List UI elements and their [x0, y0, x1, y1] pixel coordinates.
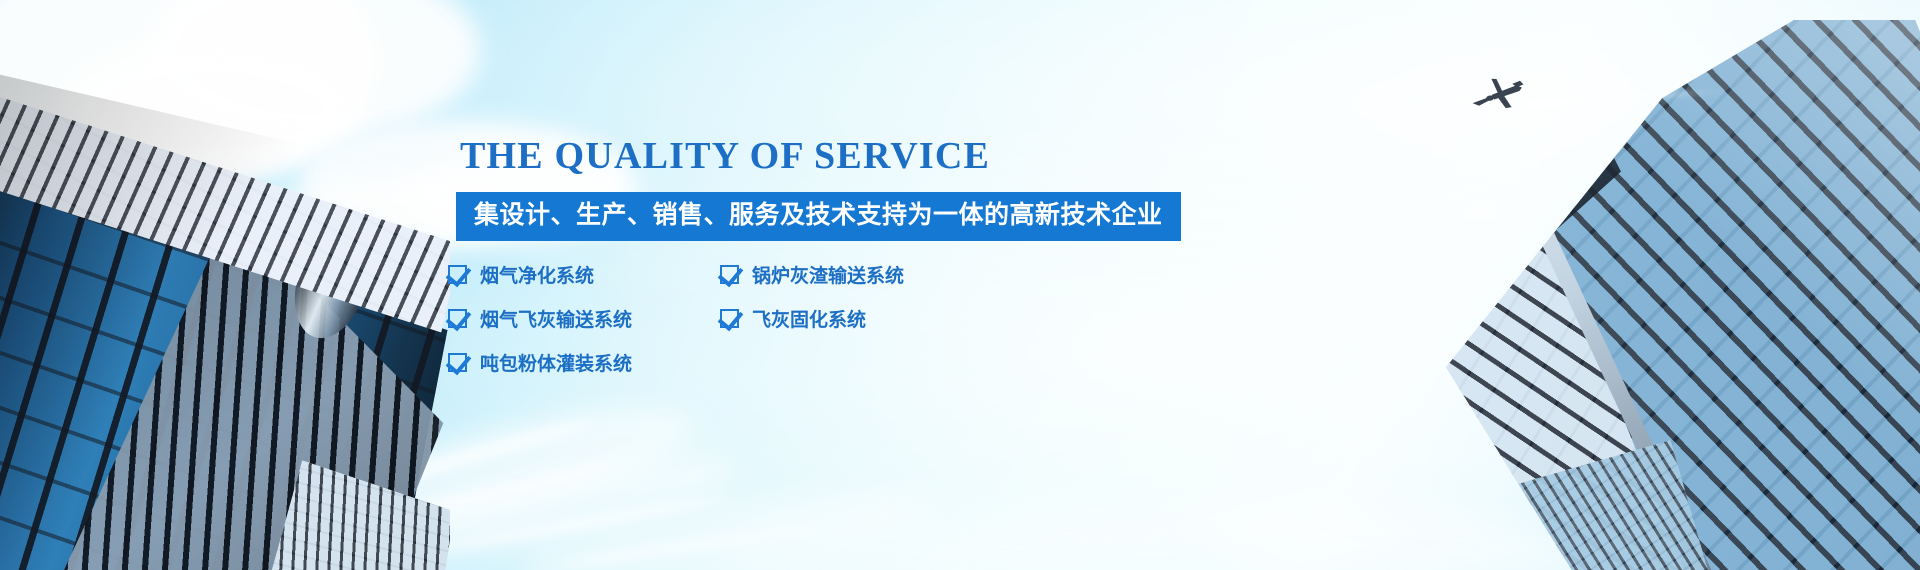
airplane-icon	[1463, 70, 1533, 124]
feature-label: 烟气飞灰输送系统	[480, 305, 632, 332]
list-item[interactable]: 吨包粉体灌装系统	[448, 340, 720, 384]
hero-banner: THE QUALITY OF SERVICE 集设计、生产、销售、服务及技术支持…	[0, 0, 1920, 570]
feature-label: 吨包粉体灌装系统	[480, 349, 632, 376]
feature-label: 烟气净化系统	[480, 261, 594, 288]
checkbox-checked-icon[interactable]	[448, 265, 467, 284]
list-item[interactable]: 锅炉灰渣输送系统	[720, 252, 992, 296]
checkbox-checked-icon[interactable]	[720, 265, 739, 284]
feature-label: 飞灰固化系统	[752, 305, 866, 332]
list-item[interactable]: 飞灰固化系统	[720, 296, 992, 340]
checkbox-checked-icon[interactable]	[720, 309, 739, 328]
feature-list: 烟气净化系统 锅炉灰渣输送系统 烟气飞灰输送系统 飞灰固化系统 吨包粉体灌装系统	[448, 252, 1208, 384]
checkbox-checked-icon[interactable]	[448, 353, 467, 372]
checkbox-checked-icon[interactable]	[448, 309, 467, 328]
banner-text-block: THE QUALITY OF SERVICE 集设计、生产、销售、服务及技术支持…	[456, 136, 1216, 241]
feature-label: 锅炉灰渣输送系统	[752, 261, 904, 288]
list-item[interactable]: 烟气净化系统	[448, 252, 720, 296]
page-title: THE QUALITY OF SERVICE	[460, 136, 1216, 178]
subtitle-bar: 集设计、生产、销售、服务及技术支持为一体的高新技术企业	[456, 192, 1181, 241]
list-item[interactable]: 烟气飞灰输送系统	[448, 296, 720, 340]
